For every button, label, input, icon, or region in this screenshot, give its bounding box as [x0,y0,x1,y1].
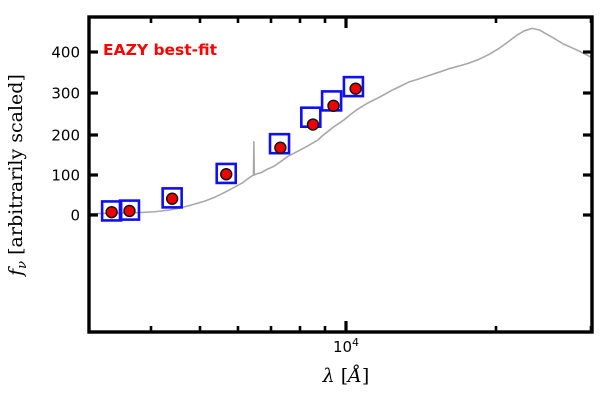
observed-photometry-point [167,193,178,204]
observed-photometry-point [328,100,339,111]
axes-frame [89,17,592,332]
y-axis-ticks [89,52,592,215]
y-axis-title: fν [arbitrarily scaled] [5,74,30,278]
y-tick-label: 200 [51,127,80,145]
model-photometry-markers [102,77,363,220]
y-tick-label: 100 [51,167,80,185]
observed-photometry-point [124,205,135,216]
y-tick-label: 0 [70,207,80,225]
observed-photometry-point [106,207,117,218]
y-axis-tick-labels: 0100200300400 [51,44,80,225]
y-tick-label: 400 [51,44,80,62]
x-axis-tick-labels: 104 [333,336,359,356]
y-tick-label: 300 [51,85,80,103]
x-axis-title: λ [Å] [322,365,370,387]
x-tick-label: 104 [333,336,359,356]
plot-border [89,17,592,332]
observed-photometry-point [350,83,361,94]
observed-photometry-point [307,119,318,130]
x-axis-title-text: λ [Å] [322,365,370,387]
figure-canvas: 0100200300400 104 λ [Å] fν [arbitrarily … [0,0,600,400]
sed-plot: 0100200300400 104 λ [Å] fν [arbitrarily … [0,0,600,400]
y-axis-title-text: fν [arbitrarily scaled] [5,74,30,278]
observed-photometry-point [221,169,232,180]
eazy-best-fit-label: EAZY best-fit [103,41,218,59]
observed-photometry-point [275,142,286,153]
